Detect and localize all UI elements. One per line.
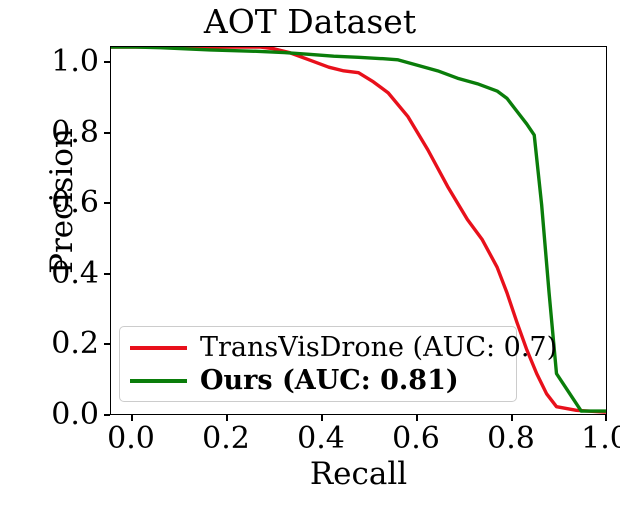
figure-canvas: AOT Dataset 0.0 0.2 0.4 0.6 0.8 1.0 0.0 … (0, 0, 620, 506)
chart-title: AOT Dataset (0, 2, 620, 42)
legend-label-ours: Ours (AUC: 0.81) (200, 366, 459, 396)
ytick-mark-0 (104, 414, 110, 416)
legend-label-transvisdrone: TransVisDrone (AUC: 0.7) (200, 333, 557, 363)
ytick-mark-4 (104, 132, 110, 134)
ytick-label-0: 0.0 (0, 400, 99, 430)
ytick-mark-5 (104, 61, 110, 63)
y-axis-label: Precision (43, 21, 81, 381)
ytick-mark-2 (104, 273, 110, 275)
legend-swatch-transvisdrone (130, 346, 187, 350)
ytick-mark-1 (104, 343, 110, 345)
legend-item-ours[interactable]: Ours (AUC: 0.81) (130, 365, 459, 397)
x-axis-label: Recall (110, 455, 607, 493)
xtick-label-5: 1.0 (545, 421, 620, 457)
legend-swatch-ours (130, 379, 187, 383)
legend: TransVisDrone (AUC: 0.7) Ours (AUC: 0.81… (119, 326, 517, 402)
ytick-mark-3 (104, 202, 110, 204)
legend-item-transvisdrone[interactable]: TransVisDrone (AUC: 0.7) (130, 332, 557, 364)
